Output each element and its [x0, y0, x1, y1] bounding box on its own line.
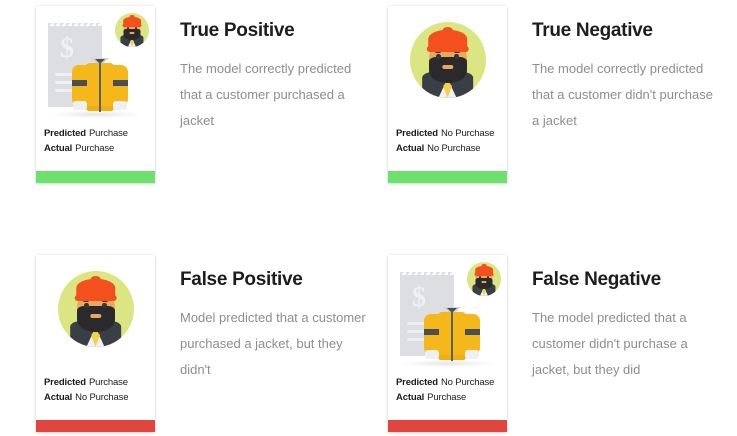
jacket-cuff-left [73, 101, 87, 110]
predicted-label: Predicted [396, 377, 438, 388]
text-block-false-positive: False Positive Model predicted that a cu… [180, 255, 370, 383]
status-bar-negative [36, 420, 155, 432]
jacket-cuff-right [465, 350, 479, 359]
quadrant-false-positive: PredictedPurchase ActualNo Purchase Fals… [36, 255, 370, 432]
avatar-beard [124, 29, 141, 41]
card-prediction-labels: PredictedNo Purchase ActualNo Purchase [388, 126, 507, 156]
customer-avatar-icon [467, 262, 501, 296]
predicted-value: Purchase [89, 128, 128, 139]
quadrant-description: The model predicted that a customer didn… [532, 305, 722, 383]
predicted-row: PredictedPurchase [44, 375, 155, 390]
predicted-label: Predicted [44, 377, 86, 388]
quadrant-title: True Positive [180, 20, 370, 42]
avatar-mouth [442, 65, 453, 70]
status-bar-negative [388, 420, 507, 432]
confusion-matrix-grid: $ [0, 0, 737, 436]
jacket-stripe-left [72, 80, 87, 86]
status-bar-positive [36, 171, 155, 183]
jacket-stripe-right [113, 80, 128, 86]
predicted-label: Predicted [44, 128, 86, 139]
predicted-row: PredictedNo Purchase [396, 126, 507, 141]
actual-row: ActualNo Purchase [396, 141, 507, 156]
actual-label: Actual [44, 392, 72, 403]
text-block-true-negative: True Negative The model correctly predic… [532, 6, 722, 134]
card-false-positive[interactable]: PredictedPurchase ActualNo Purchase [36, 255, 155, 432]
illustration-avatar-only [388, 6, 507, 126]
illustration-receipt-jacket-avatar: $ [36, 6, 155, 126]
card-prediction-labels: PredictedPurchase ActualNo Purchase [36, 375, 155, 405]
quadrant-true-positive: $ [36, 6, 370, 183]
predicted-value: No Purchase [441, 128, 494, 139]
avatar-mouth [90, 314, 101, 319]
text-block-false-negative: False Negative The model predicted that … [532, 255, 722, 383]
actual-label: Actual [396, 143, 424, 154]
customer-avatar-icon [410, 22, 486, 98]
quadrant-false-negative: $ [388, 255, 722, 432]
avatar-mouth [129, 32, 134, 34]
actual-value: Purchase [75, 143, 114, 154]
avatar-beard [429, 57, 467, 83]
avatar-mouth [481, 281, 486, 283]
actual-value: No Purchase [75, 392, 128, 403]
jacket-zipper [451, 311, 453, 361]
actual-row: ActualNo Purchase [44, 390, 155, 405]
quadrant-title: False Positive [180, 269, 370, 291]
avatar-beanie-brim [426, 46, 469, 53]
customer-avatar-icon [115, 13, 149, 47]
quadrant-description: Model predicted that a customer purchase… [180, 305, 370, 383]
quadrant-description: The model correctly predicted that a cus… [532, 56, 722, 134]
jacket-cuff-right [113, 101, 127, 110]
avatar-eye-left [479, 276, 481, 278]
jacket-zipper [99, 62, 101, 112]
status-bar-positive [388, 171, 507, 183]
illustration-receipt-jacket-avatar: $ [388, 255, 507, 375]
avatar-beanie-pom [130, 15, 135, 18]
jacket-cuff-left [425, 350, 439, 359]
actual-label: Actual [396, 392, 424, 403]
predicted-row: PredictedNo Purchase [396, 375, 507, 390]
avatar-beanie-brim [122, 24, 141, 27]
actual-label: Actual [44, 143, 72, 154]
predicted-row: PredictedPurchase [44, 126, 155, 141]
customer-avatar-icon [58, 271, 134, 347]
avatar-eye-right [135, 27, 137, 29]
card-true-negative[interactable]: PredictedNo Purchase ActualNo Purchase [388, 6, 507, 183]
quadrant-true-negative: PredictedNo Purchase ActualNo Purchase T… [388, 6, 722, 183]
quadrant-title: True Negative [532, 20, 722, 42]
actual-row: ActualPurchase [44, 141, 155, 156]
avatar-beard [476, 278, 493, 290]
predicted-label: Predicted [396, 128, 438, 139]
avatar-eye-left [127, 27, 129, 29]
avatar-beanie-pom [482, 264, 487, 267]
jacket-stripe-right [465, 329, 480, 335]
card-prediction-labels: PredictedPurchase ActualPurchase [36, 126, 155, 156]
avatar-beanie-brim [74, 295, 117, 302]
jacket-icon [69, 58, 131, 116]
illustration-avatar-only [36, 255, 155, 375]
actual-value: Purchase [427, 392, 466, 403]
text-block-true-positive: True Positive The model correctly predic… [180, 6, 370, 134]
quadrant-title: False Negative [532, 269, 722, 291]
actual-row: ActualPurchase [396, 390, 507, 405]
avatar-eye-right [487, 276, 489, 278]
actual-value: No Purchase [427, 143, 480, 154]
card-false-negative[interactable]: $ [388, 255, 507, 432]
jacket-icon [421, 307, 483, 365]
predicted-value: Purchase [89, 377, 128, 388]
card-prediction-labels: PredictedNo Purchase ActualPurchase [388, 375, 507, 405]
avatar-beanie-brim [474, 273, 493, 276]
predicted-value: No Purchase [441, 377, 494, 388]
avatar-beanie-pom [442, 27, 453, 33]
avatar-beard [77, 306, 115, 332]
quadrant-description: The model correctly predicted that a cus… [180, 56, 370, 134]
jacket-stripe-left [424, 329, 439, 335]
card-true-positive[interactable]: $ [36, 6, 155, 183]
avatar-beanie-pom [90, 276, 101, 282]
